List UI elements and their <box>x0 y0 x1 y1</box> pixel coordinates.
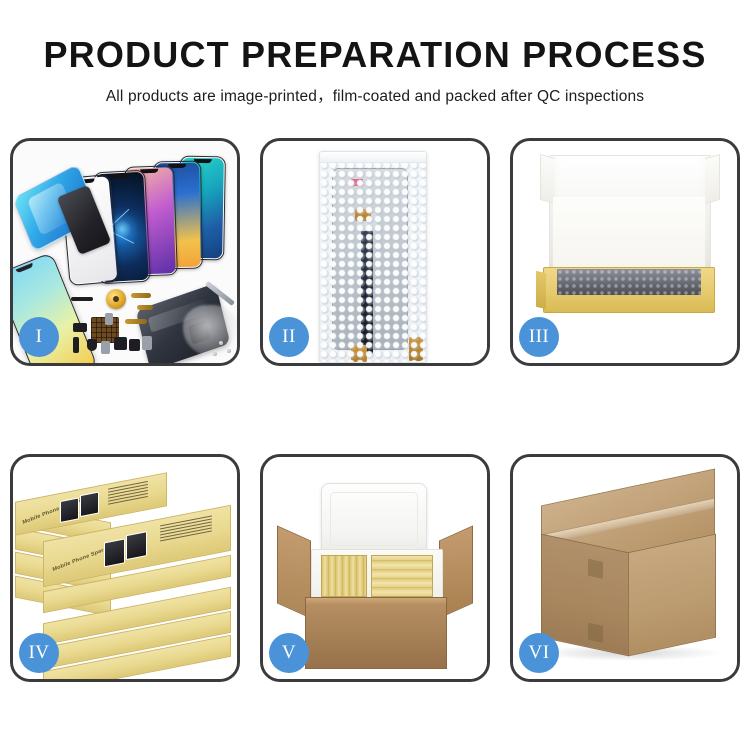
step-badge-1: I <box>19 317 59 357</box>
spare-part-button <box>87 339 97 351</box>
step-badge-6: VI <box>519 633 559 673</box>
step-panel-5: V <box>260 454 490 682</box>
product-preparation-process-page: PRODUCT PREPARATION PROCESS All products… <box>0 0 750 750</box>
retail-box-window-left-b <box>80 491 99 517</box>
packing-tape-strip <box>542 498 714 545</box>
spare-part-strip <box>73 337 79 353</box>
speaker-coil-part <box>106 289 126 309</box>
page-title: PRODUCT PREPARATION PROCESS <box>0 0 750 74</box>
yellow-boxes-bundle-left <box>321 555 367 597</box>
spare-part-flex-cable-2 <box>137 305 153 310</box>
retail-box-spec-lines-front <box>160 515 212 543</box>
carton-flap-tab-upper <box>588 559 603 579</box>
page-header: PRODUCT PREPARATION PROCESS All products… <box>0 0 750 106</box>
foam-lid-open <box>321 483 427 557</box>
step-panel-6: VI <box>510 454 740 682</box>
carton-side-face <box>628 534 716 657</box>
packed-screen-assembly <box>332 168 408 350</box>
spare-part-metal-clip <box>105 313 113 325</box>
step-badge-4: IV <box>19 633 59 673</box>
carton-flap-tab-lower <box>588 623 603 643</box>
spare-part-module-1 <box>73 323 87 332</box>
spare-part-bar <box>71 297 93 301</box>
screen-flex-cable <box>361 227 373 355</box>
spare-part-module-2 <box>129 339 140 351</box>
step-panel-1: I <box>10 138 240 366</box>
spare-part-sim-tray <box>101 341 110 354</box>
white-foam-sheet <box>553 197 705 269</box>
step-badge-3: III <box>519 317 559 357</box>
page-subtitle: All products are image-printed，film-coat… <box>0 74 750 106</box>
spare-part-flex-cable-3 <box>125 319 147 324</box>
spare-part-flex-cable-1 <box>131 293 151 298</box>
spare-part-camera <box>114 337 127 350</box>
retail-box-window-front-a <box>104 538 125 567</box>
retail-box-spec-lines-left <box>108 481 148 507</box>
process-step-grid: I <box>10 138 740 682</box>
qc-pink-sticker <box>351 179 363 186</box>
carton-front-face <box>541 534 629 657</box>
step-badge-5: V <box>269 633 309 673</box>
connector-bottom-left <box>351 345 367 363</box>
connector-bottom-right <box>409 337 423 361</box>
step-panel-4: Mobile Phone Spare Parts Mobile Phone Sp… <box>10 454 240 682</box>
spare-part-bracket <box>142 336 152 350</box>
step-badge-2: II <box>269 317 309 357</box>
step-panel-2: II <box>260 138 490 366</box>
bubble-wrap-bag <box>319 151 427 363</box>
grey-bubble-wrap-contents <box>557 269 701 295</box>
carton-body <box>305 597 447 669</box>
yellow-boxes-bundle-right <box>371 555 433 597</box>
retail-box-window-left-a <box>60 497 79 523</box>
step-panel-3: III <box>510 138 740 366</box>
retail-box-window-front-b <box>126 531 147 560</box>
connector-top <box>355 209 371 221</box>
bag-seal-edge <box>320 152 426 163</box>
